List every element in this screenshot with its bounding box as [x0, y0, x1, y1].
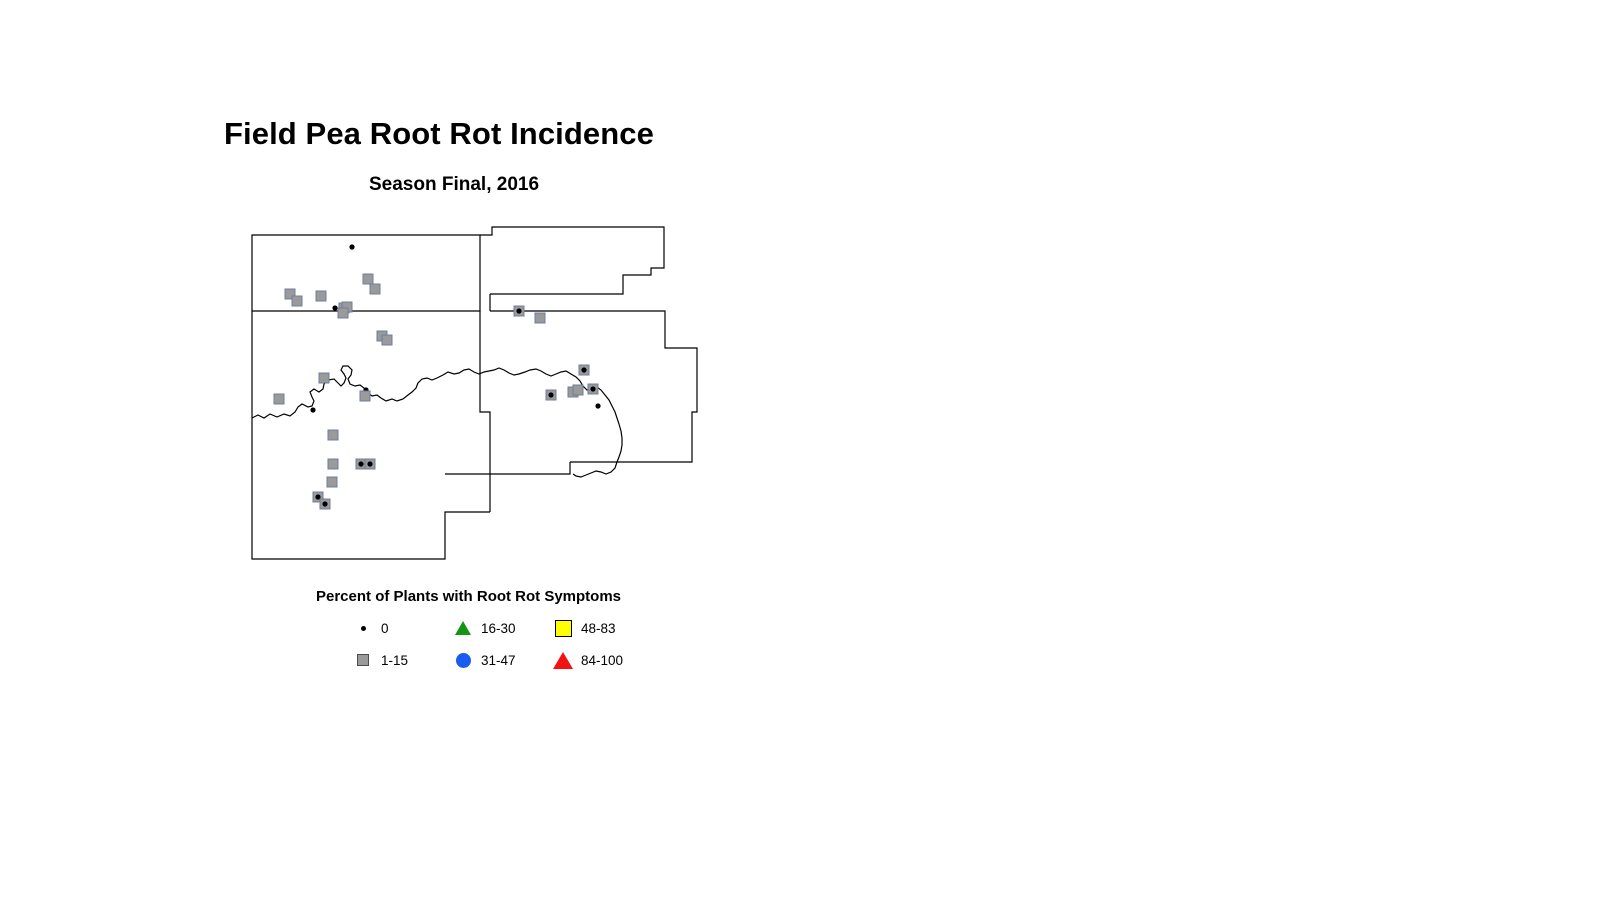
map-data-point	[535, 313, 545, 323]
map-data-point	[370, 284, 380, 294]
map-data-point	[573, 385, 583, 395]
map-data-point	[516, 308, 521, 313]
legend-item-84-100[interactable]: 84-100	[550, 652, 650, 669]
county-nw	[252, 235, 480, 311]
gray-square-icon	[350, 654, 376, 666]
map-data-point	[363, 274, 373, 284]
yellow-square-icon	[550, 620, 576, 637]
legend-item-48-83[interactable]: 48-83	[550, 620, 650, 637]
map-data-point	[590, 386, 595, 391]
map-data-point	[328, 459, 338, 469]
map-data-point	[382, 335, 392, 345]
map-data-point	[327, 477, 337, 487]
blue-circle-icon	[450, 653, 476, 668]
map-data-point	[292, 296, 302, 306]
red-triangle-icon	[550, 652, 576, 669]
county-outlines	[252, 227, 697, 559]
legend-label-16-30: 16-30	[481, 621, 516, 636]
legend-item-1-15[interactable]: 1-15	[350, 653, 450, 668]
legend-label-31-47: 31-47	[481, 653, 516, 668]
legend-item-31-47[interactable]: 31-47	[450, 653, 550, 668]
map-data-point	[360, 391, 370, 401]
map-data-point	[548, 392, 553, 397]
map-data-point	[581, 367, 586, 372]
page-subtitle: Season Final, 2016	[369, 174, 539, 196]
figure-canvas: Field Pea Root Rot Incidence Season Fina…	[0, 0, 1612, 900]
legend-row-1: 0 16-30 48-83	[350, 612, 650, 644]
map-data-point	[274, 394, 284, 404]
map-data-point	[319, 373, 329, 383]
map-data-point	[322, 501, 327, 506]
legend-label-84-100: 84-100	[581, 653, 623, 668]
green-triangle-icon	[450, 621, 476, 635]
county-se-lower	[445, 462, 570, 474]
legend-title: Percent of Plants with Root Rot Symptoms	[316, 588, 621, 605]
map-data-point	[358, 461, 363, 466]
map-data-point	[310, 407, 315, 412]
river-boundary	[252, 366, 622, 477]
page-title: Field Pea Root Rot Incidence	[224, 116, 654, 152]
small-black-dot-icon	[350, 626, 376, 631]
legend-item-0[interactable]: 0	[350, 621, 450, 636]
legend-item-16-30[interactable]: 16-30	[450, 621, 550, 636]
map-data-point	[349, 244, 354, 249]
map-data-point	[332, 305, 337, 310]
county-central-divider	[480, 311, 490, 512]
data-point-layer	[274, 244, 601, 509]
legend-label-48-83: 48-83	[581, 621, 616, 636]
legend-row-2: 1-15 31-47 84-100	[350, 644, 650, 676]
legend: 0 16-30 48-83 1-15 31-47 84-100	[350, 612, 650, 676]
county-ne	[480, 227, 664, 294]
root-rot-incidence-map	[240, 222, 710, 582]
map-data-point	[338, 308, 348, 318]
map-data-point	[328, 430, 338, 440]
map-data-point	[367, 461, 372, 466]
county-w-outer	[252, 311, 490, 559]
map-data-point	[316, 291, 326, 301]
legend-label-1-15: 1-15	[381, 653, 408, 668]
map-data-point	[595, 403, 600, 408]
legend-label-0: 0	[381, 621, 389, 636]
